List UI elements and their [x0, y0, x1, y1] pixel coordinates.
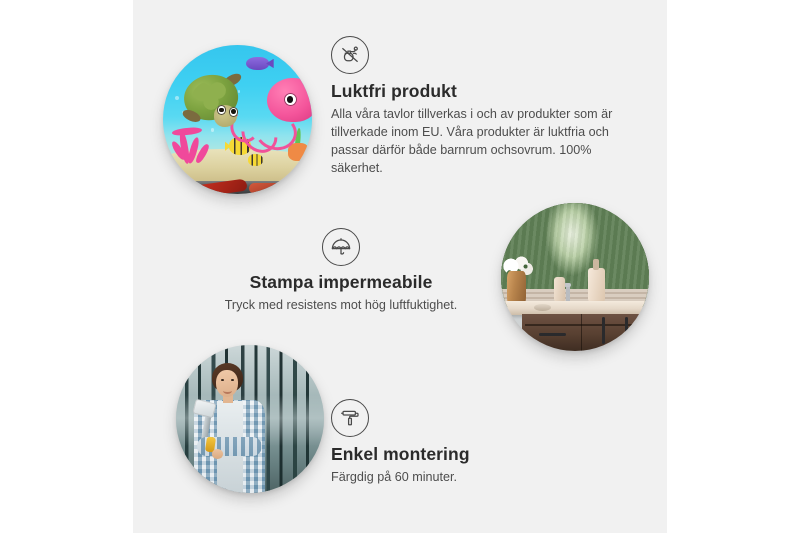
- soap-dish: [534, 304, 552, 311]
- screenshot-root: Luktfri produkt Alla våra tavlor tillver…: [0, 0, 800, 533]
- feature-description: Färgdig på 60 minuter.: [331, 469, 601, 487]
- drawer-handle: [539, 333, 566, 336]
- bottle: [554, 277, 564, 302]
- umbrella-icon: [322, 228, 360, 266]
- feature-description: Tryck med resistens mot hög luftfuktighe…: [196, 297, 486, 315]
- soap-dispenser: [588, 268, 604, 302]
- cabinet-handle: [602, 317, 605, 344]
- paint-roller-icon: [331, 399, 369, 437]
- yellow-fish: [248, 154, 263, 166]
- purple-fish: [246, 57, 268, 70]
- photo-aquarium: [163, 45, 312, 194]
- feature-title: Luktfri produkt: [331, 81, 615, 102]
- hand: [212, 449, 224, 459]
- aquarium-illustration: [163, 45, 312, 194]
- faucet: [566, 286, 570, 301]
- feature-waterproof: Stampa impermeabile Tryck med resistens …: [196, 228, 486, 315]
- feature-odourless: Luktfri produkt Alla våra tavlor tillver…: [331, 36, 615, 178]
- no-fragrance-icon: [331, 36, 369, 74]
- cabinet-handle: [625, 317, 628, 344]
- feature-easy-mounting: Enkel montering Färgdig på 60 minuter.: [331, 399, 601, 487]
- turtle-eye: [229, 107, 239, 117]
- cabinet-seam: [581, 314, 583, 351]
- octopus-eye: [284, 93, 297, 106]
- feature-title: Stampa impermeabile: [196, 272, 486, 293]
- photo-painter: [176, 345, 324, 493]
- feature-description: Alla våra tavlor tillverkas i och av pro…: [331, 106, 615, 178]
- cabinet-seam: [525, 324, 649, 326]
- dispenser-pump: [593, 259, 599, 269]
- bathroom-photo: [501, 203, 649, 351]
- starfish: [288, 143, 309, 161]
- photo-bathroom: [501, 203, 649, 351]
- painter-photo: [176, 345, 324, 493]
- feature-title: Enkel montering: [331, 444, 601, 465]
- aquarium-foreground-strip: [163, 181, 312, 194]
